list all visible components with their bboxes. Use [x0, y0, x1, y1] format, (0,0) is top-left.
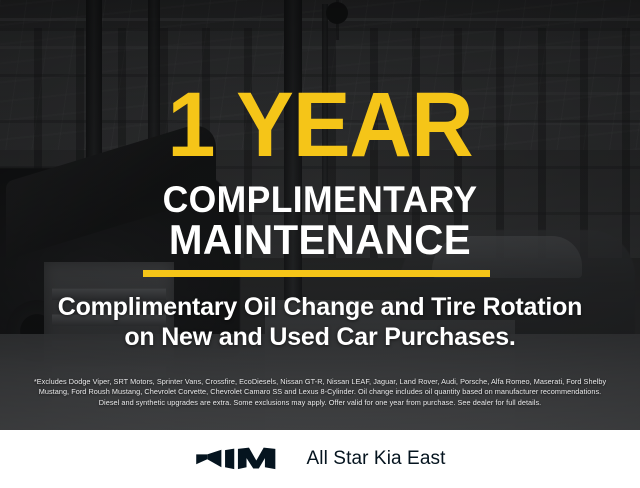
- headline-year: 1 YEAR: [19, 79, 621, 171]
- footer-bar: All Star Kia East: [0, 430, 640, 488]
- yellow-divider-rule: [143, 270, 490, 277]
- subheadline-line-2: on New and Used Car Purchases.: [0, 322, 640, 352]
- disclaimer-line-2: Mustang, Ford Roush Mustang, Chevrolet C…: [14, 387, 626, 397]
- promotional-banner: 1 YEAR COMPLIMENTARY MAINTENANCE Complim…: [0, 0, 640, 488]
- headline-maintenance: MAINTENANCE: [13, 219, 627, 261]
- subheadline-line-1: Complimentary Oil Change and Tire Rotati…: [0, 292, 640, 322]
- headline-complimentary: COMPLIMENTARY: [13, 181, 627, 218]
- kia-logo[interactable]: [195, 447, 287, 471]
- disclaimer-text: *Excludes Dodge Viper, SRT Motors, Sprin…: [14, 377, 626, 408]
- dealer-name: All Star Kia East: [307, 448, 446, 470]
- disclaimer-line-1: *Excludes Dodge Viper, SRT Motors, Sprin…: [14, 377, 626, 387]
- subheadline: Complimentary Oil Change and Tire Rotati…: [0, 292, 640, 352]
- banner-content: 1 YEAR COMPLIMENTARY MAINTENANCE Complim…: [0, 0, 640, 488]
- disclaimer-line-3: Diesel and synthetic upgrades are extra.…: [14, 398, 626, 408]
